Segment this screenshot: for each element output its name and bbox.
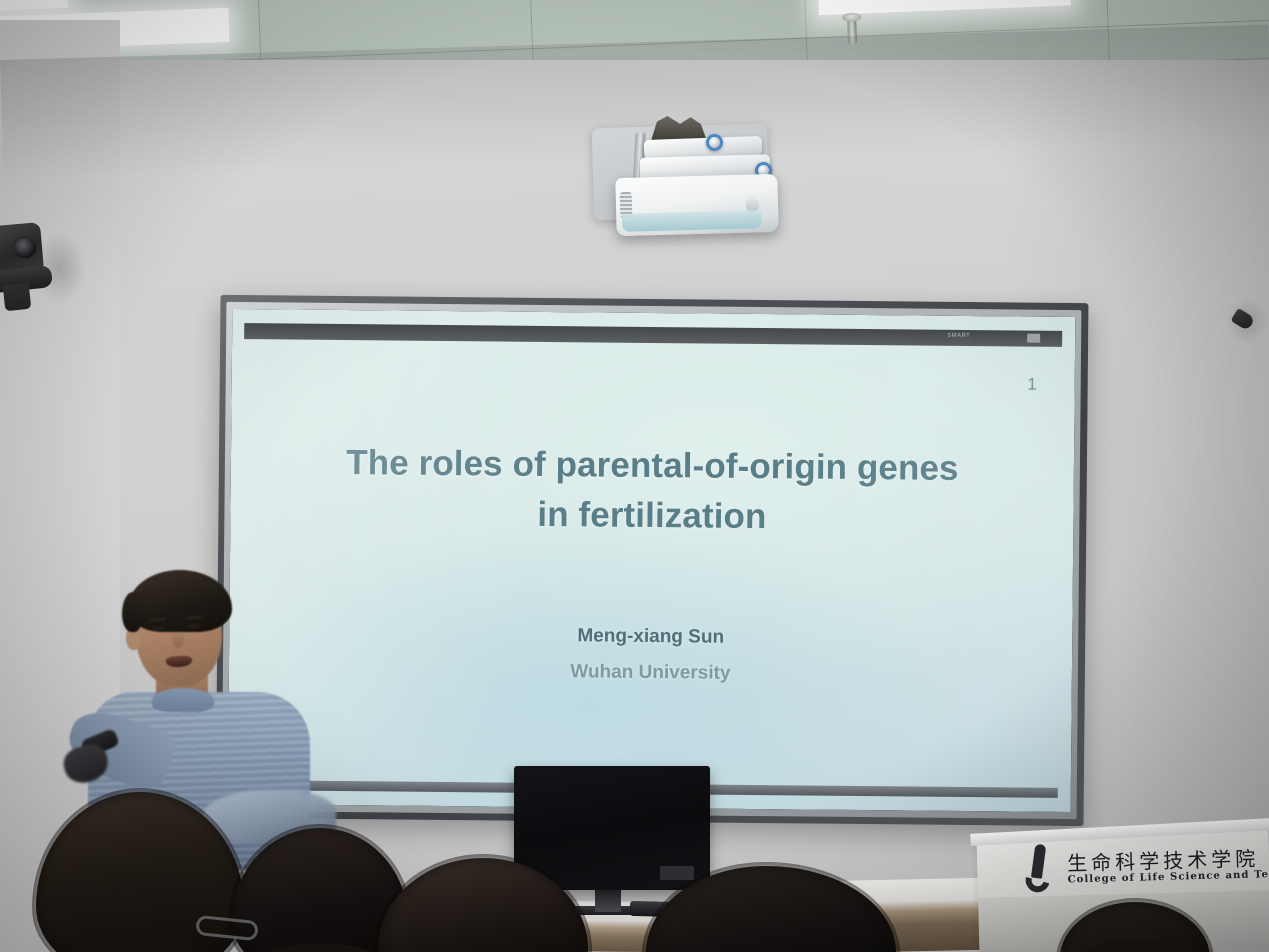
wall-speaker-icon [1233,312,1259,338]
projector-lens-icon [622,210,762,232]
podium-sign: 生命科学技术学院 College of Life Science and Tec… [1013,842,1264,897]
slide-author: Meng-xiang Sun [229,622,1072,652]
slide-title-line-1: The roles of parental-of-origin genes [346,443,959,488]
presenter-hair [128,570,232,632]
slide-page-number: 1 [1027,375,1037,395]
slide-affiliation: Wuhan University [229,658,1072,688]
lecture-room-photo: 1 The roles of parental-of-origin genes … [0,0,1269,952]
screen-rail-icon [1027,334,1040,343]
projector [588,108,788,243]
university-logo-icon [1019,844,1064,895]
camera-lens-icon [12,236,38,260]
screen-brand-label: SMART [947,333,970,339]
monitor-badge [660,866,694,880]
slide-title-line-2: in fertilization [230,487,1073,545]
ceiling-light-panel [0,0,68,14]
slide-title: The roles of parental-of-origin genes in… [230,437,1074,544]
presentation-slide: 1 The roles of parental-of-origin genes … [228,309,1076,812]
projector-adjust-knob [706,134,723,151]
ptz-camera-icon [0,218,58,318]
